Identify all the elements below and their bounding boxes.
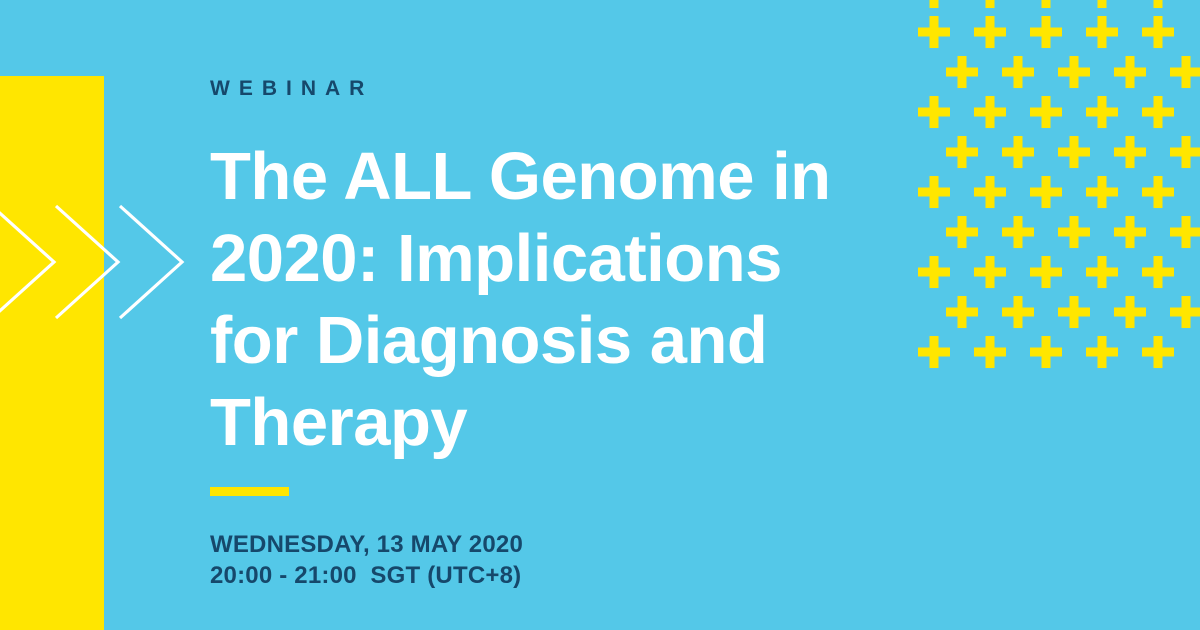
event-date: WEDNESDAY, 13 MAY 2020: [210, 529, 523, 560]
webinar-promo-banner: WEBINAR The ALL Genome in 2020: Implicat…: [0, 0, 1200, 630]
title-line: The ALL Genome in: [210, 136, 940, 218]
event-time: 20:00 - 21:00 SGT (UTC+8): [210, 560, 523, 591]
plus-sign-pattern-decoration: [910, 0, 1200, 380]
title-line: Therapy: [210, 382, 940, 464]
yellow-accent-divider: [210, 487, 289, 496]
chevron-arrows-icon: [0, 200, 188, 325]
page-title: The ALL Genome in 2020: Implications for…: [210, 136, 940, 464]
content-column: WEBINAR The ALL Genome in 2020: Implicat…: [210, 0, 930, 630]
yellow-side-block: [0, 76, 104, 630]
title-line: 2020: Implications: [210, 218, 940, 300]
title-line: for Diagnosis and: [210, 300, 940, 382]
eyebrow-label: WEBINAR: [210, 78, 373, 99]
event-datetime: WEDNESDAY, 13 MAY 2020 20:00 - 21:00 SGT…: [210, 529, 523, 591]
